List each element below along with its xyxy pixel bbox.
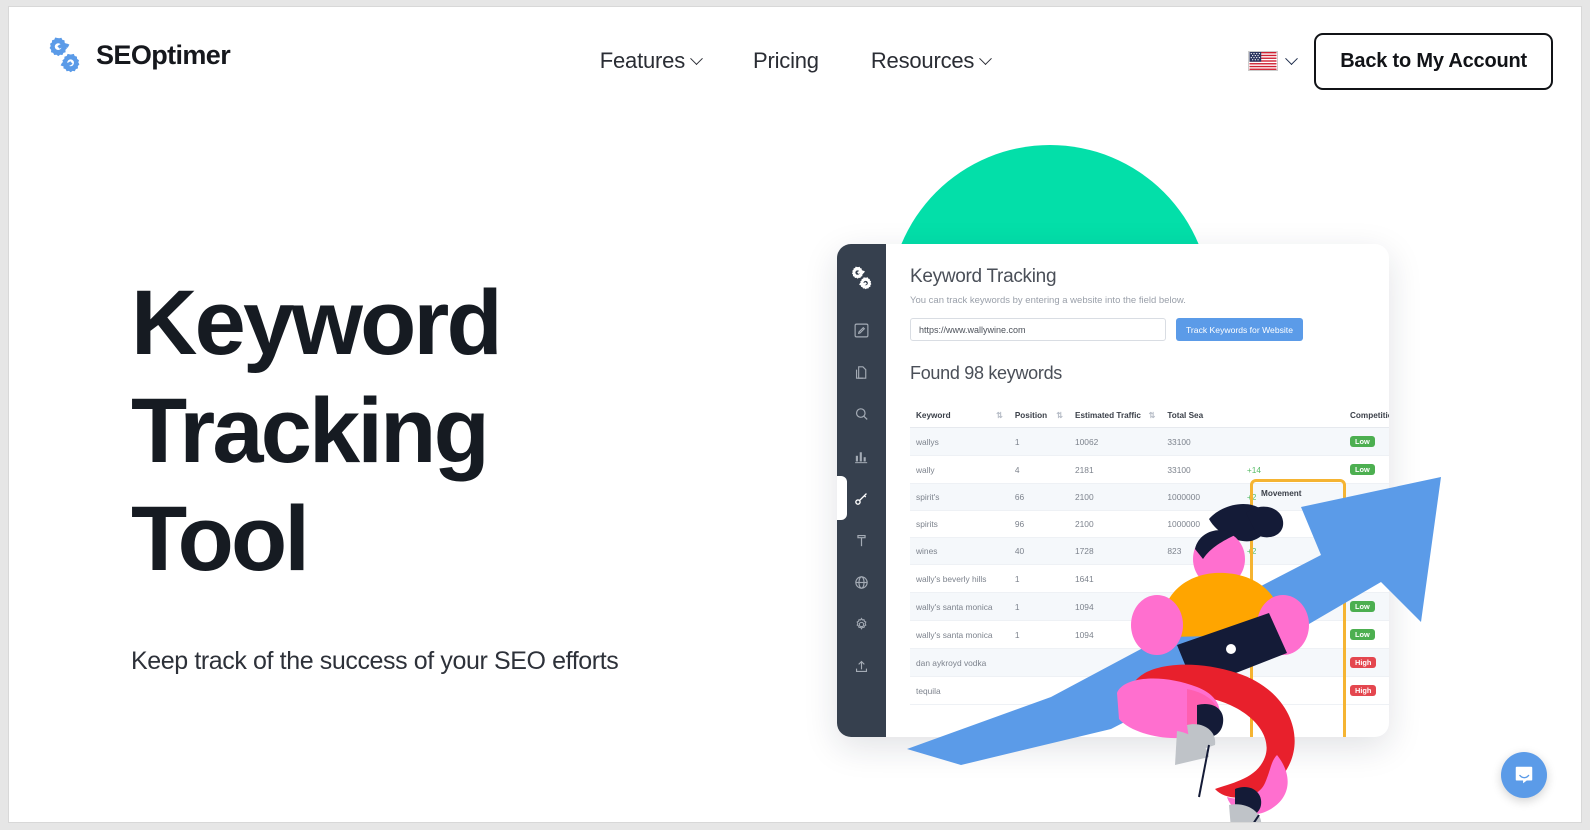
page-title: Keyword Tracking Tool	[131, 269, 771, 593]
nav-item-resources[interactable]: Resources	[871, 48, 990, 74]
cell-traffic: 632	[1069, 677, 1161, 705]
cell-keyword: spirits	[910, 511, 1009, 538]
keywords-table-head: Keyword⇅ Position⇅ Estimated Traffic⇅ To…	[910, 404, 1389, 428]
track-keywords-button[interactable]: Track Keywords for Website	[1176, 318, 1303, 341]
sort-updown-icon[interactable]: ⇅	[996, 411, 1003, 420]
keywords-table: Keyword⇅ Position⇅ Estimated Traffic⇅ To…	[910, 404, 1389, 705]
nav-label-resources: Resources	[871, 48, 974, 74]
table-row[interactable]: spirits9621001000000	[910, 511, 1389, 538]
app-page-subtitle: You can track keywords by entering a web…	[910, 295, 1389, 306]
cell-competition: Low	[1344, 428, 1389, 456]
cell-traffic: 2100	[1069, 484, 1161, 511]
hero-illustration: Keyword Tracking You can track keywords …	[791, 117, 1511, 817]
cell-movement: +14	[1241, 456, 1344, 484]
track-keywords-form: Track Keywords for Website	[910, 318, 1389, 341]
language-switcher[interactable]	[1248, 51, 1296, 71]
cell-position: 1	[1009, 565, 1069, 593]
sidebar-item-export[interactable]	[849, 653, 875, 679]
cell-position: 4	[1009, 456, 1069, 484]
magnifier-icon	[853, 406, 870, 423]
nav-item-features[interactable]: Features	[600, 48, 701, 74]
status-badge: Low	[1350, 629, 1375, 640]
hero-title-line-3: Tool	[131, 485, 307, 593]
cell-traffic: 10062	[1069, 428, 1161, 456]
cell-searches	[1161, 565, 1241, 593]
chevron-down-icon	[979, 52, 992, 65]
cell-traffic: 2100	[1069, 511, 1161, 538]
app-content: Keyword Tracking You can track keywords …	[886, 244, 1389, 737]
movement-value: +2	[1247, 492, 1257, 502]
column-header-competition[interactable]: Competition⇅	[1344, 404, 1389, 428]
cell-position: 96	[1009, 511, 1069, 538]
cell-searches	[1161, 621, 1241, 649]
header-right-group: Back to My Account	[1248, 7, 1553, 115]
cell-competition: Low	[1344, 593, 1389, 621]
key-icon	[853, 490, 870, 507]
cell-movement	[1241, 565, 1344, 593]
table-row[interactable]: wally4218133100+14Low	[910, 456, 1389, 484]
column-label-position: Position	[1015, 411, 1047, 420]
hero-title-line-2: Tracking	[131, 377, 487, 485]
cell-position: 1	[1009, 593, 1069, 621]
back-to-my-account-button[interactable]: Back to My Account	[1314, 33, 1553, 90]
cell-movement	[1241, 511, 1344, 538]
nav-item-pricing[interactable]: Pricing	[753, 48, 819, 74]
cell-searches	[1161, 649, 1241, 677]
chevron-down-icon	[690, 52, 703, 65]
gear-icon	[853, 616, 870, 633]
status-badge: Low	[1350, 573, 1375, 584]
table-row[interactable]: wally's santa monica11094Low	[910, 621, 1389, 649]
cell-searches: 33100	[1161, 428, 1241, 456]
cell-movement	[1241, 649, 1344, 677]
cell-competition	[1344, 511, 1389, 538]
column-header-searches[interactable]: Total Sea	[1161, 404, 1241, 428]
cell-movement: +2	[1241, 484, 1344, 511]
cell-searches: 33100	[1161, 456, 1241, 484]
cell-searches: 823	[1161, 538, 1241, 565]
pencil-square-icon	[853, 322, 870, 339]
hero-copy: Keyword Tracking Tool Keep track of the …	[131, 269, 771, 676]
column-header-position[interactable]: Position⇅	[1009, 404, 1069, 428]
cell-competition	[1344, 484, 1389, 511]
cell-searches	[1161, 593, 1241, 621]
nav-label-features: Features	[600, 48, 685, 74]
cell-traffic: 1728	[1069, 538, 1161, 565]
table-row[interactable]: wally's santa monica11094Low	[910, 593, 1389, 621]
sidebar-item-analytics[interactable]	[849, 443, 875, 469]
table-header-row: Keyword⇅ Position⇅ Estimated Traffic⇅ To…	[910, 404, 1389, 428]
hero-subtitle: Keep track of the success of your SEO ef…	[131, 647, 771, 676]
hero-title-line-1: Keyword	[131, 269, 500, 377]
sort-updown-icon[interactable]: ⇅	[1056, 411, 1063, 420]
cell-competition: High	[1344, 677, 1389, 705]
app-screenshot-window: Keyword Tracking You can track keywords …	[837, 244, 1389, 737]
us-flag-icon	[1248, 51, 1278, 71]
status-badge: High	[1350, 657, 1376, 668]
column-label-searches: Total Sea	[1167, 411, 1203, 420]
found-keywords-count: Found 98 keywords	[910, 363, 1389, 384]
cell-movement: +2	[1241, 677, 1344, 705]
cell-keyword: wally	[910, 456, 1009, 484]
cell-competition	[1344, 538, 1389, 565]
upload-icon	[853, 658, 870, 675]
app-page-title: Keyword Tracking	[910, 266, 1389, 288]
cell-searches: 1000000	[1161, 511, 1241, 538]
cell-keyword: tequila	[910, 677, 1009, 705]
seoptimer-gears-logo-icon	[849, 265, 875, 291]
cell-position: 1	[1009, 428, 1069, 456]
cell-traffic: 1641	[1069, 565, 1161, 593]
status-badge: High	[1350, 685, 1376, 696]
table-row[interactable]: dan aykroyd vodkaHigh	[910, 649, 1389, 677]
table-row[interactable]: tequila632301000+2High	[910, 677, 1389, 705]
cell-searches: 1000000	[1161, 484, 1241, 511]
cell-competition: Low	[1344, 565, 1389, 593]
cell-movement: +2	[1241, 538, 1344, 565]
sidebar-item-reports[interactable]	[849, 359, 875, 385]
hammer-icon	[853, 532, 870, 549]
cell-keyword: wally's santa monica	[910, 621, 1009, 649]
cell-traffic: 1094	[1069, 593, 1161, 621]
chat-bubble-icon	[1513, 764, 1535, 786]
site-header: SEOptimer Features Pricing Resources	[9, 7, 1581, 115]
sidebar-item-edit[interactable]	[849, 317, 875, 343]
cell-keyword: dan aykroyd vodka	[910, 649, 1009, 677]
keywords-table-body: wallys11006233100Lowwally4218133100+14Lo…	[910, 428, 1389, 705]
sidebar-item-keywords[interactable]	[849, 485, 875, 511]
browser-viewport: SEOptimer Features Pricing Resources	[8, 6, 1582, 823]
cell-keyword: wally's santa monica	[910, 593, 1009, 621]
sort-updown-icon[interactable]: ⇅	[1149, 411, 1156, 420]
cell-movement	[1241, 593, 1344, 621]
cell-keyword: spirit's	[910, 484, 1009, 511]
table-row[interactable]: wallys11006233100Low	[910, 428, 1389, 456]
movement-value: +2	[1247, 686, 1257, 696]
column-header-traffic[interactable]: Estimated Traffic⇅	[1069, 404, 1161, 428]
cell-position: 40	[1009, 538, 1069, 565]
status-badge: Low	[1350, 436, 1375, 447]
app-sidebar	[837, 244, 886, 737]
cell-keyword: wines	[910, 538, 1009, 565]
cell-competition: Low	[1344, 456, 1389, 484]
cell-position: 66	[1009, 484, 1069, 511]
column-header-movement[interactable]	[1241, 404, 1344, 428]
bar-chart-icon	[853, 448, 870, 465]
table-row[interactable]: wally's beverly hills11641Low	[910, 565, 1389, 593]
cell-competition: Low	[1344, 621, 1389, 649]
column-label-competition: Competition	[1350, 411, 1389, 420]
cell-keyword: wallys	[910, 428, 1009, 456]
sidebar-item-backlinks[interactable]	[849, 569, 875, 595]
cell-traffic: 1094	[1069, 621, 1161, 649]
website-url-input[interactable]	[910, 318, 1166, 341]
cell-competition: High	[1344, 649, 1389, 677]
sidebar-item-audit[interactable]	[849, 401, 875, 427]
cell-movement	[1241, 621, 1344, 649]
column-header-keyword[interactable]: Keyword⇅	[910, 404, 1009, 428]
nav-label-pricing: Pricing	[753, 48, 819, 74]
cell-keyword: wally's beverly hills	[910, 565, 1009, 593]
sidebar-item-settings[interactable]	[849, 611, 875, 637]
column-label-keyword: Keyword	[916, 411, 951, 420]
cell-searches: 301000	[1161, 677, 1241, 705]
table-row[interactable]: spirit's6621001000000+2	[910, 484, 1389, 511]
column-label-traffic: Estimated Traffic	[1075, 411, 1141, 420]
cell-traffic	[1069, 649, 1161, 677]
cell-movement	[1241, 428, 1344, 456]
globe-icon	[853, 574, 870, 591]
documents-copy-icon	[853, 364, 870, 381]
chevron-down-icon	[1285, 52, 1298, 65]
cell-position: 1	[1009, 621, 1069, 649]
cell-position	[1009, 677, 1069, 705]
table-row[interactable]: wines401728823+2	[910, 538, 1389, 565]
status-badge: Low	[1350, 464, 1375, 475]
movement-value: +2	[1247, 546, 1257, 556]
intercom-chat-launcher[interactable]	[1501, 752, 1547, 798]
cell-traffic: 2181	[1069, 456, 1161, 484]
movement-value: +14	[1247, 465, 1261, 475]
cell-position	[1009, 649, 1069, 677]
status-badge: Low	[1350, 601, 1375, 612]
sidebar-item-tools[interactable]	[849, 527, 875, 553]
